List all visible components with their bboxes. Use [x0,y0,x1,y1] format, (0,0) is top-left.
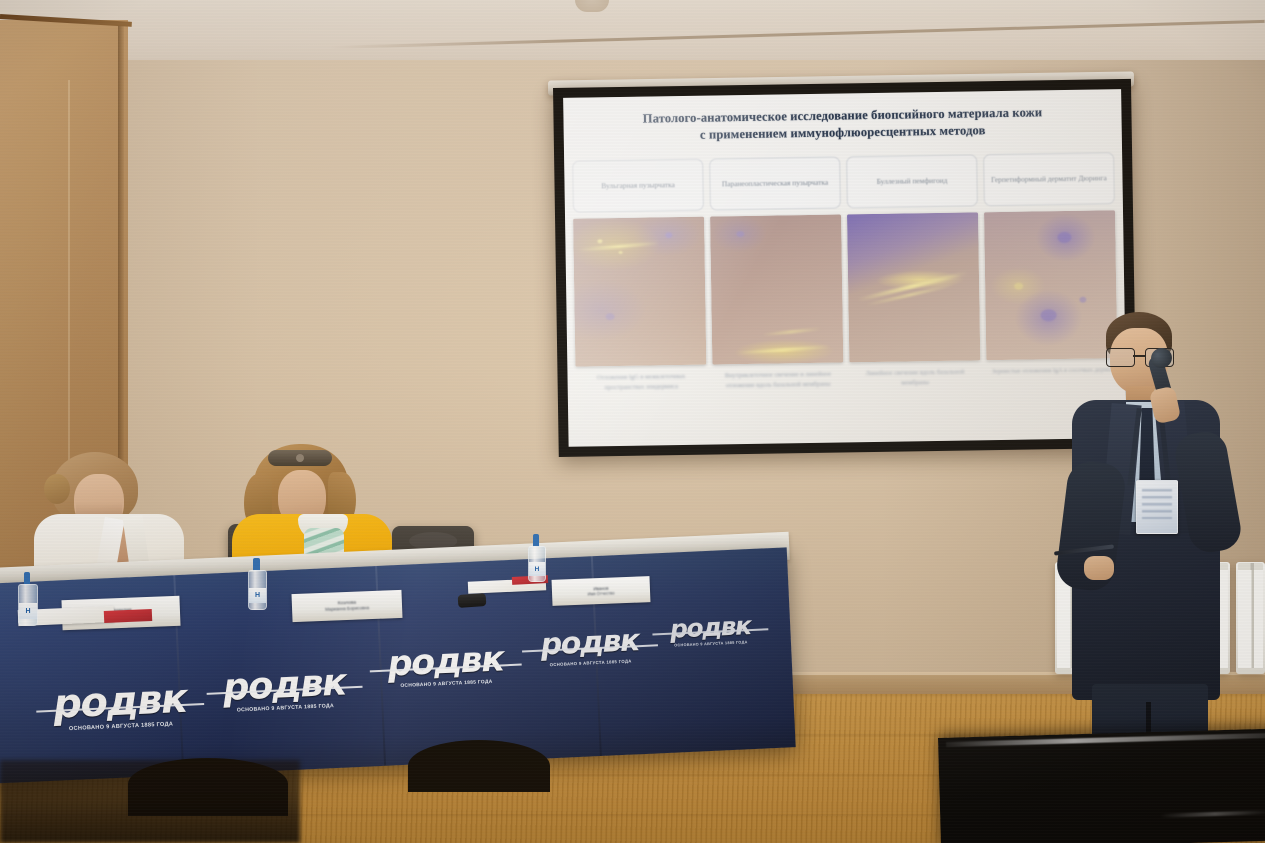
projection-screen: Патолого-анатомическое исследование биоп… [553,79,1137,457]
table-logo-1: родвк ОСНОВАНО 9 АВГУСТА 1885 ГОДА [44,678,196,733]
logo-mark: родвк [377,642,514,683]
water-bottle-1: Н [18,572,36,626]
foreground-shadow-left [0,760,300,843]
slide-column-2: Паранеопластическая пузырчатка Внутрикле… [709,156,844,390]
placard-line-2: Имя Отчество [588,590,615,596]
column-caption-2: Внутриклеточное свечение и линейное отло… [712,369,843,390]
ceiling-vent-icon [575,0,609,12]
conference-badge [1136,480,1178,534]
column-header-3: Буллезный пемфигоид [846,154,978,208]
name-placard-3: Иванов Имя Отчество [552,576,651,606]
slide-column-3: Буллезный пемфигоид Линейное свечение вд… [846,154,981,388]
table-leg-shadow-2 [408,740,550,792]
slide-column-1: Вульгарная пузырчатка Отложения IgG в ме… [572,159,707,393]
table-logo-2: родвк ОСНОВАНО 9 АВГУСТА 1885 ГОДА [214,663,356,714]
column-header-1: Вульгарная пузырчатка [572,159,704,213]
column-caption-3: Линейное свечение вдоль базальной мембра… [849,367,980,388]
water-bottle-3: Н [528,534,544,582]
column-header-4: Герпетиформный дерматит Дюринга [983,152,1115,206]
hair-bun [44,474,70,504]
red-folder [104,609,152,623]
slide-columns: Вульгарная пузырчатка Отложения IgG в ме… [572,152,1118,393]
badge-text-lines [1142,489,1172,519]
name-placard-2: Козлова Марианна Борисовна [292,590,403,622]
logo-mark: родвк [44,678,196,725]
column-header-2: Паранеопластическая пузырчатка [709,156,841,210]
bottle-body: Н [248,570,267,610]
table-logo-5: родвк ОСНОВАНО 9 АВГУСТА 1885 ГОДА [658,613,763,649]
bottle-label: Н [249,588,266,603]
black-object-on-table [458,593,487,608]
water-bottle-2: Н [248,558,265,610]
radiator-right [1236,562,1265,674]
logo-mark: родвк [528,626,651,662]
table-cloth: родвк ОСНОВАНО 9 АВГУСТА 1885 ГОДА родвк… [0,547,796,784]
micrograph-2 [710,214,843,364]
bottle-label: Н [529,562,545,576]
slide-title: Патолого-анатомическое исследование биоп… [577,103,1107,145]
bottle-body: Н [18,584,38,626]
table-logo-3: родвк ОСНОВАНО 9 АВГУСТА 1885 ГОДА [377,642,515,690]
micrograph-1 [573,217,706,367]
column-caption-1: Отложения IgG в межклеточных пространств… [575,372,706,393]
conference-photo-scene: Патолого-анатомическое исследование биоп… [0,0,1265,843]
logo-mark: родвк [658,613,763,643]
logo-mark: родвк [214,663,356,706]
table-logo-4: родвк ОСНОВАНО 9 АВГУСТА 1885 ГОДА [528,626,652,668]
sunglasses-icon [268,450,332,466]
bottle-label: Н [19,603,37,619]
micrograph-3 [847,212,980,362]
slide-surface: Патолого-анатомическое исследование биоп… [563,89,1126,447]
hand-left [1084,556,1114,580]
bottle-body: Н [528,546,546,582]
placard-line-2: Марианна Борисовна [325,605,369,612]
